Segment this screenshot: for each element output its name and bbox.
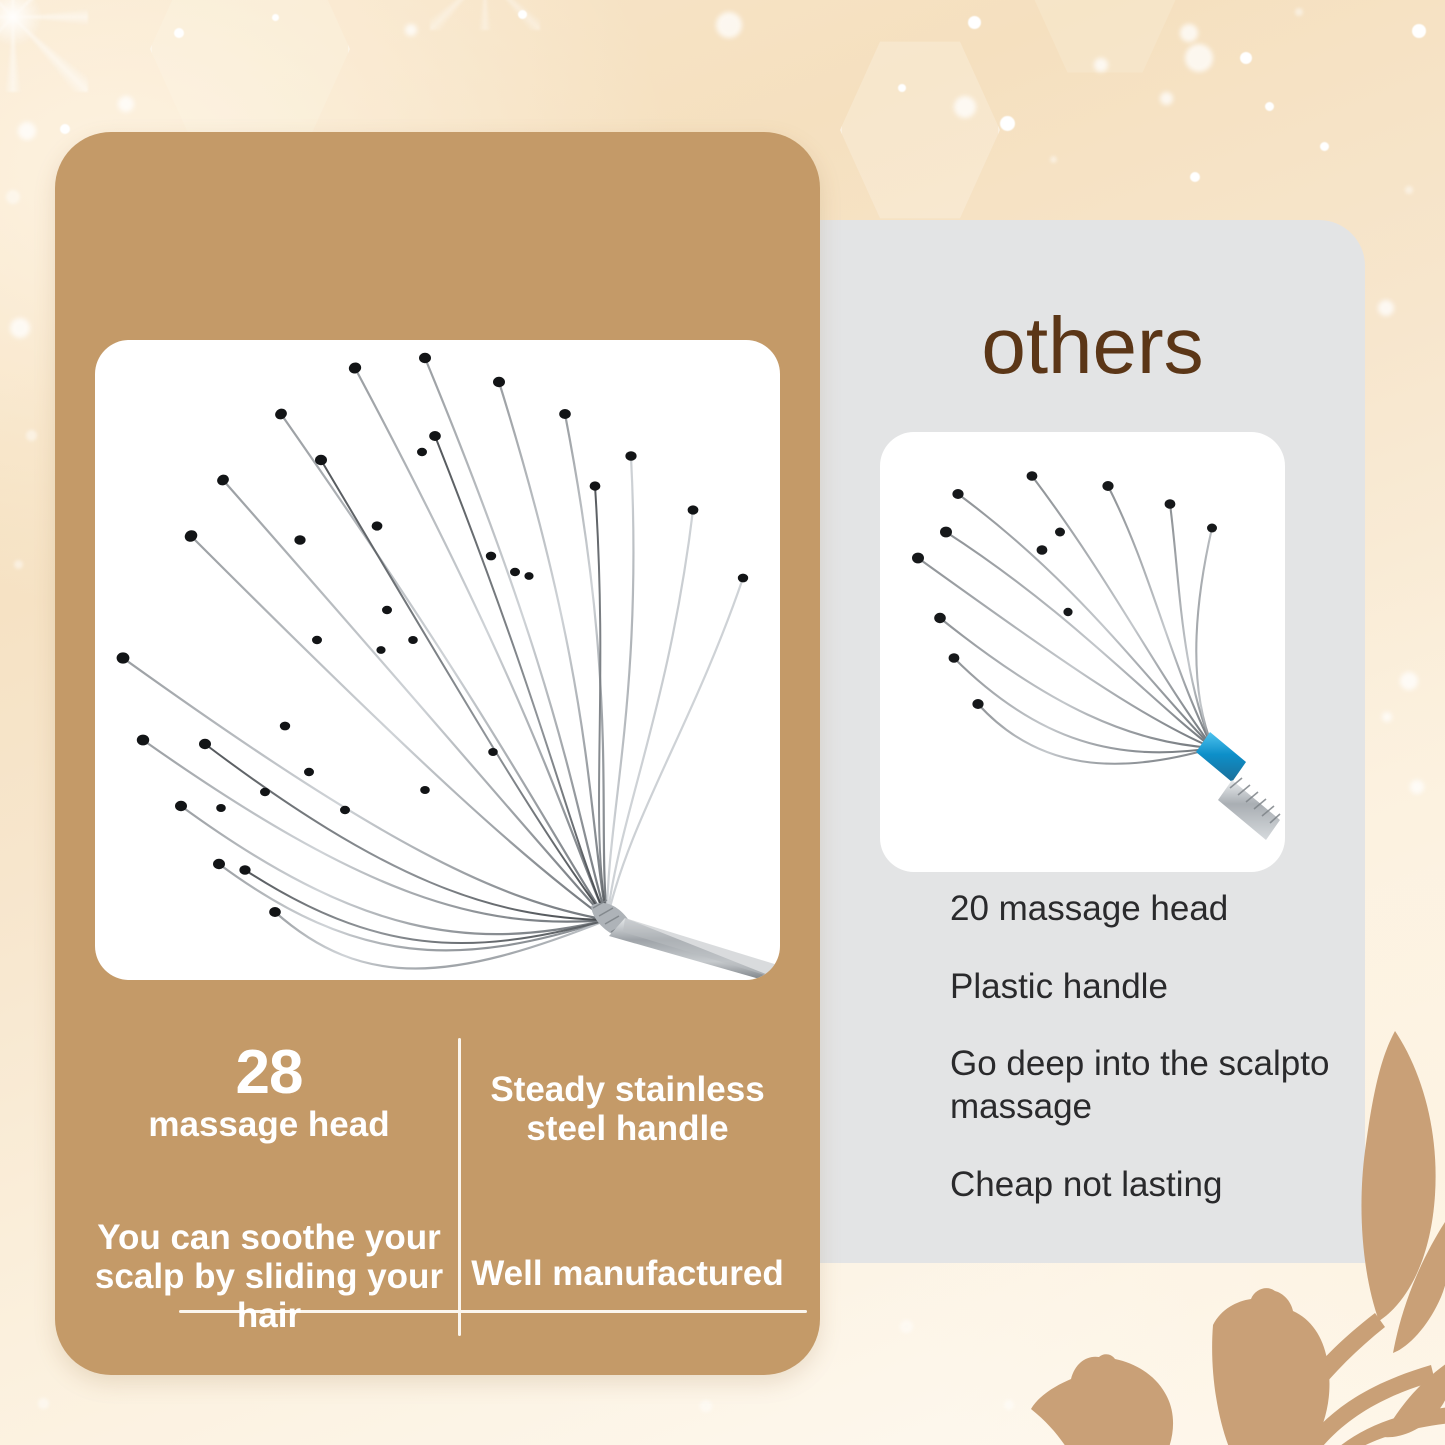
well-manufactured-label: Well manufactured [469,1254,786,1293]
bokeh-dot-icon [1004,1400,1014,1410]
bokeh-dot-icon [272,14,279,21]
grid-vertical-divider [458,1038,461,1336]
hexagon-outline-icon [840,38,1000,222]
bokeh-dot-icon [968,16,981,29]
bokeh-dot-icon [1320,142,1329,151]
list-item: 20 massage head [950,888,1350,931]
ours-card: ours [55,132,820,1375]
bokeh-dot-icon [716,12,742,38]
bokeh-dot-icon [1190,172,1200,182]
leaf-branch-icon [1023,961,1445,1445]
bokeh-dot-icon [1410,780,1424,794]
bokeh-dot-icon [1000,116,1015,131]
bokeh-dot-icon [1265,102,1274,111]
bokeh-dot-icon [118,96,134,112]
feature-soothe-scalp: You can soothe your scalp by sliding you… [89,1218,449,1336]
bokeh-dot-icon [898,84,906,92]
massage-head-label: massage head [89,1105,449,1144]
bokeh-dot-icon [1400,672,1418,690]
others-product-image [880,432,1285,872]
bokeh-dot-icon [1160,92,1173,105]
ours-product-image [95,340,780,980]
bokeh-dot-icon [1094,58,1108,72]
feature-steel-handle: Steady stainless steel handle [469,1070,786,1148]
bokeh-dot-icon [1412,24,1426,38]
bokeh-dot-icon [900,1320,913,1333]
bokeh-dot-icon [6,190,20,204]
infographic-canvas: others [0,0,1445,1445]
bokeh-dot-icon [405,24,417,36]
soothe-scalp-label: You can soothe your scalp by sliding you… [89,1218,449,1336]
sparkle-burst-icon [0,0,88,92]
bokeh-dot-icon [1378,300,1394,316]
ours-feature-grid: 28 massage head Steady stainless steel h… [89,1022,786,1342]
bokeh-dot-icon [60,124,70,134]
others-massager-illustration [880,432,1285,872]
bokeh-dot-icon [14,560,23,569]
bokeh-dot-icon [38,1398,49,1409]
bokeh-dot-icon [174,28,184,38]
steel-handle-label: Steady stainless steel handle [469,1070,786,1148]
feature-massage-head-count: 28 massage head [89,1040,449,1144]
bokeh-dot-icon [700,1400,712,1412]
bokeh-dot-icon [1240,52,1252,64]
bokeh-dot-icon [1180,24,1198,42]
bokeh-dot-icon [1382,712,1392,722]
others-title: others [820,306,1365,386]
bokeh-dot-icon [1405,186,1413,194]
bokeh-dot-icon [18,122,36,140]
bokeh-dot-icon [10,318,30,338]
bokeh-dot-icon [1295,8,1303,16]
ours-massager-illustration [95,340,780,980]
massage-head-count: 28 [89,1040,449,1105]
bokeh-dot-icon [1050,156,1057,163]
feature-well-manufactured: Well manufactured [469,1254,786,1293]
bokeh-dot-icon [26,430,37,441]
bokeh-dot-icon [1185,44,1213,72]
bokeh-dot-icon [518,10,527,19]
bokeh-dot-icon [954,96,976,118]
